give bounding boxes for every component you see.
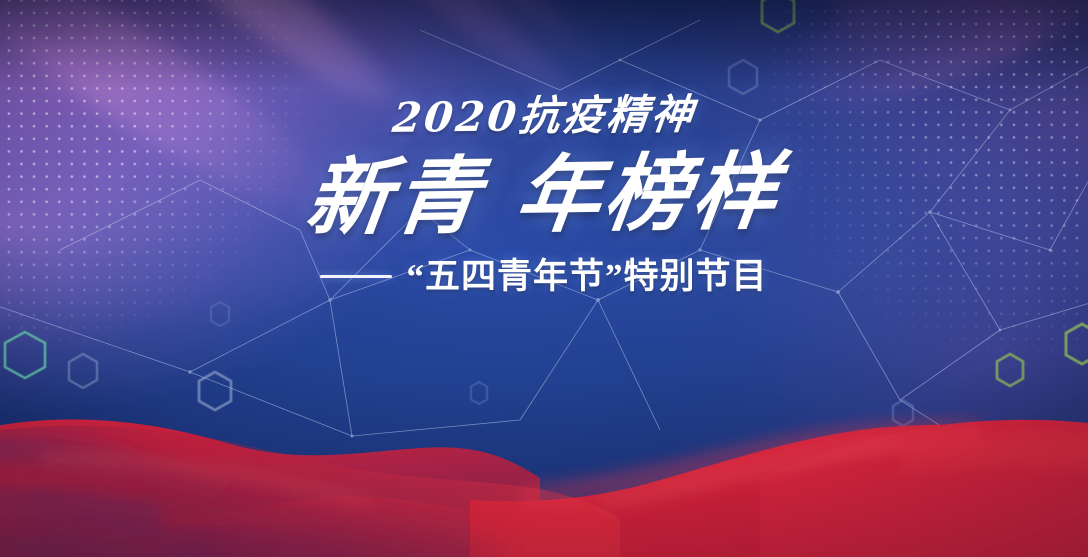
- subtitle-text: “五四青年节”特别节目: [406, 259, 767, 294]
- title-card-scene: 2020抗疫精神 新青 年榜样 “五四青年节”特别节目: [0, 0, 1088, 557]
- page-title: 新青 年榜样: [0, 145, 1088, 244]
- subtitle-row: “五四青年节”特别节目: [0, 259, 1088, 294]
- kicker-text: 2020抗疫精神: [0, 89, 1088, 143]
- title-block: 2020抗疫精神 新青 年榜样 “五四青年节”特别节目: [0, 96, 1088, 294]
- subtitle-divider: [320, 275, 392, 278]
